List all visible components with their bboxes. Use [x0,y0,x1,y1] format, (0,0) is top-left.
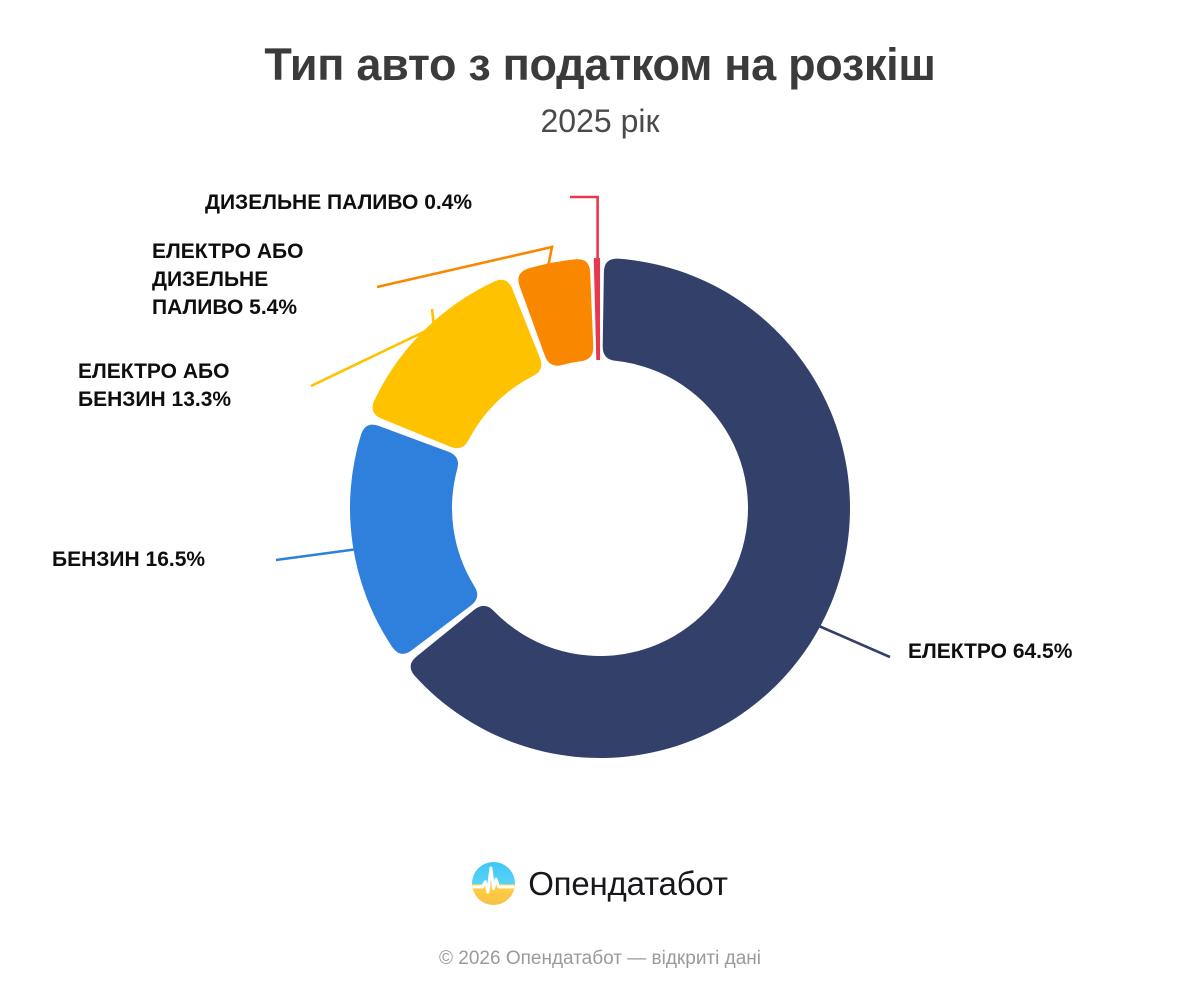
leader-line-electro [812,623,890,657]
label-electro-or-petrol: ЕЛЕКТРО АБО БЕНЗИН 13.3% [78,358,288,414]
donut-slice-electro-or-petrol[interactable] [373,280,542,448]
donut-slice-diesel[interactable] [594,258,600,360]
label-electro-or-diesel: ЕЛЕКТРО АБО ДИЗЕЛЬНЕ ПАЛИВО 5.4% [152,238,382,322]
chart-canvas: Тип авто з податком на розкіш 2025 рік Д… [0,0,1200,1000]
label-electro: ЕЛЕКТРО 64.5% [908,638,1072,666]
label-petrol: БЕНЗИН 16.5% [52,546,205,574]
donut-slices [350,258,850,758]
leader-line-diesel [570,197,598,258]
opendatabot-pulse-circle-icon [472,862,515,905]
copyright-text: © 2026 Опендатабот — відкриті дані [0,948,1200,970]
leader-line-petrol [276,549,358,560]
brand-footer: Опендатабот [0,862,1200,905]
donut-chart [0,0,1200,1000]
brand-name: Опендатабот [528,865,728,903]
label-diesel: ДИЗЕЛЬНЕ ПАЛИВО 0.4% [205,189,472,217]
donut-slice-petrol[interactable] [350,425,477,654]
